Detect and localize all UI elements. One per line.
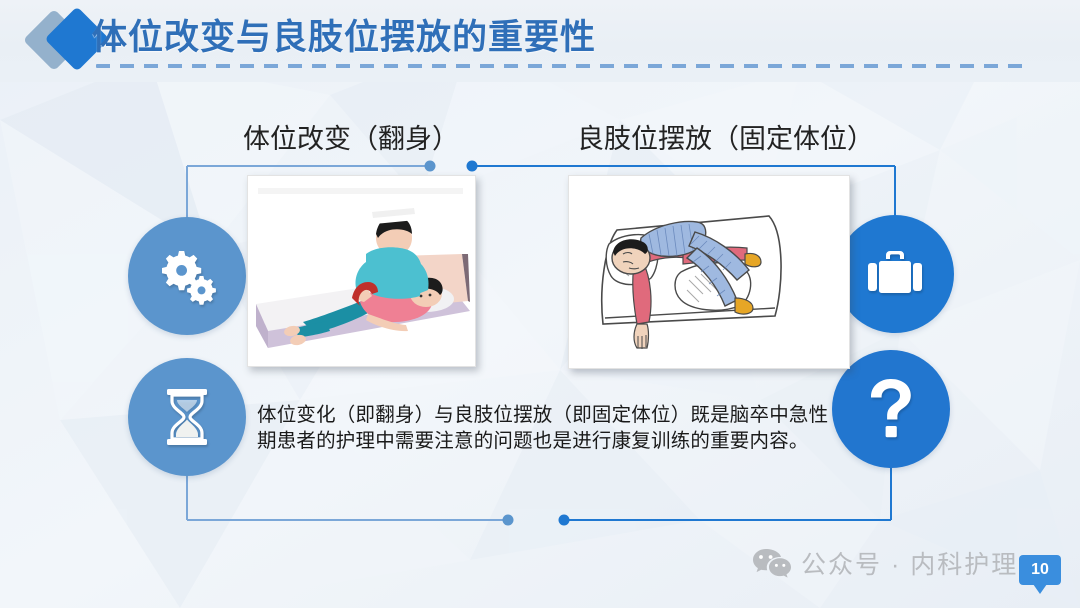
hourglass-icon bbox=[164, 388, 210, 446]
page-title: 体位改变与良肢位摆放的重要性 bbox=[92, 9, 596, 60]
illustration-turning-patient bbox=[247, 175, 476, 367]
briefcase-icon bbox=[865, 247, 925, 301]
badge-hourglass[interactable] bbox=[128, 358, 246, 476]
watermark-text: 公众号 · 内科护理 bbox=[801, 545, 1018, 581]
column-caption-right: 良肢位摆放（固定体位） bbox=[577, 117, 874, 156]
column-caption-left: 体位改变（翻身） bbox=[243, 117, 459, 156]
wechat-icon bbox=[752, 547, 792, 579]
slide-canvas: 体位改变与良肢位摆放的重要性 体位改变（翻身） 良肢位摆放（固定体位） bbox=[0, 0, 1080, 608]
question-mark-icon bbox=[866, 378, 916, 440]
title-divider bbox=[96, 64, 1026, 68]
badge-gears[interactable] bbox=[128, 217, 246, 335]
badge-briefcase[interactable] bbox=[836, 215, 954, 333]
illustration-limb-positioning bbox=[568, 175, 850, 369]
page-number-badge: 10 bbox=[1019, 555, 1061, 585]
body-paragraph: 体位变化（即翻身）与良肢位摆放（即固定体位）既是脑卒中急性期患者的护理中需要注意… bbox=[257, 402, 837, 454]
gears-icon bbox=[156, 247, 218, 305]
page-number-label: 10 bbox=[1031, 561, 1049, 579]
watermark: 公众号 · 内科护理 bbox=[752, 545, 1018, 581]
